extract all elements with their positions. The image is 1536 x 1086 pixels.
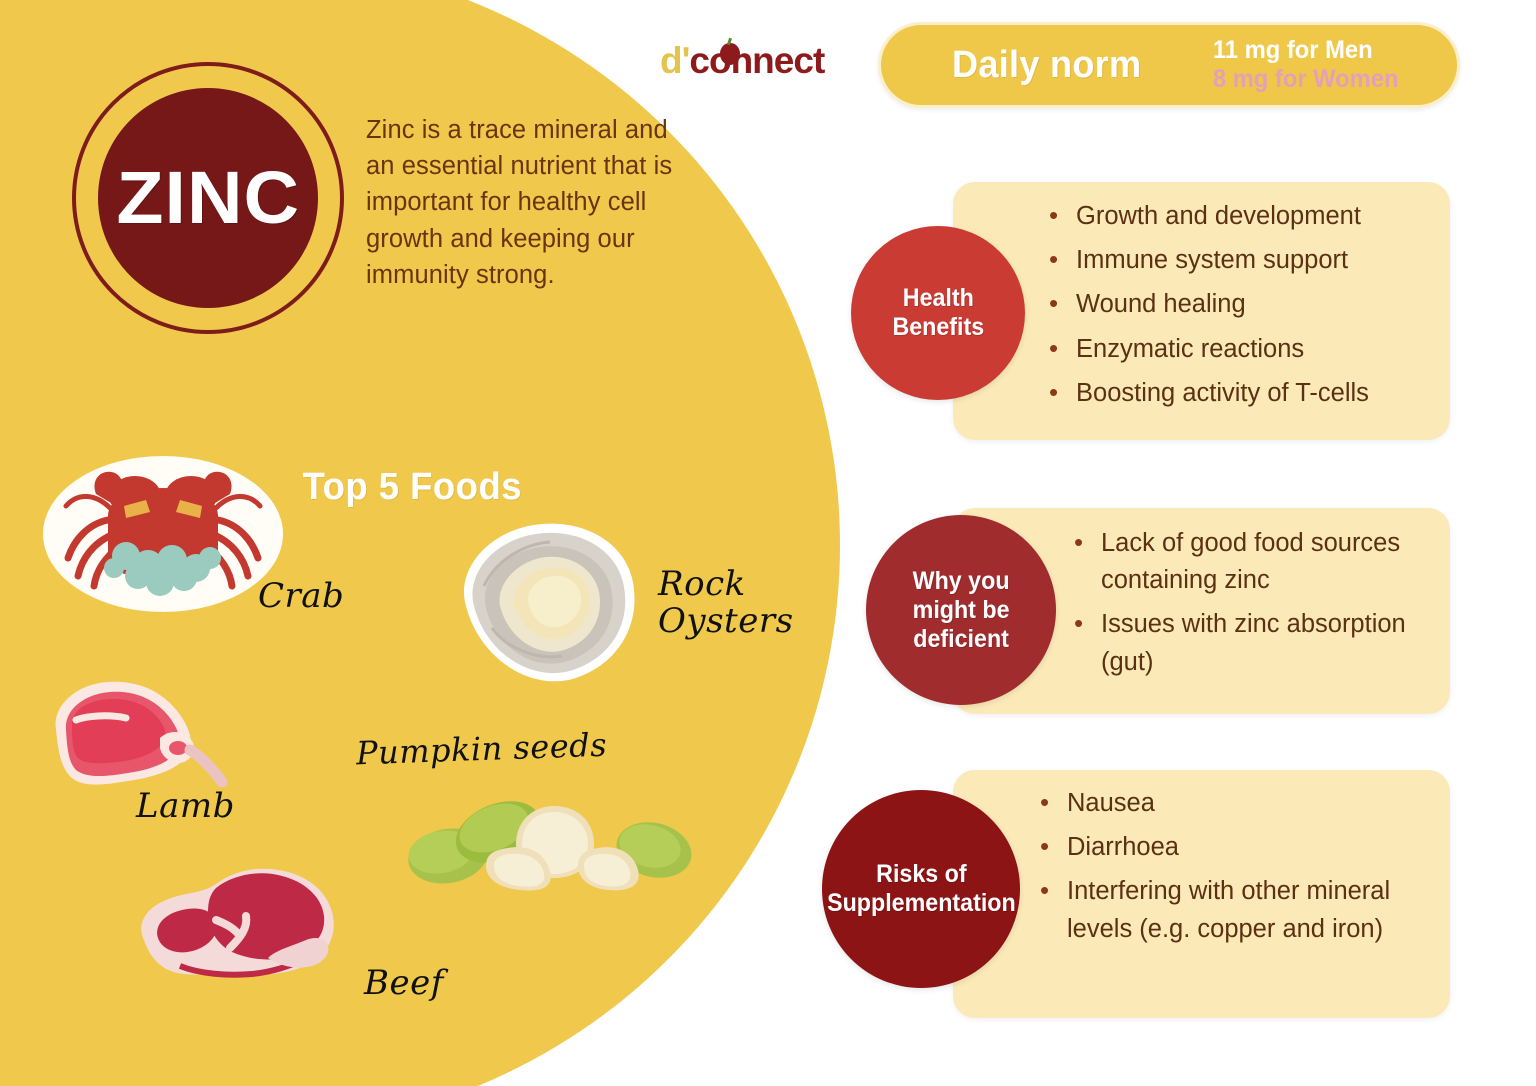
logo-d-letter: d' — [660, 42, 689, 79]
list-item: Interfering with other mineral levels (e… — [1036, 873, 1446, 947]
daily-norm-women: 8 mg for Women — [1213, 65, 1399, 95]
why-deficient-list: Lack of good food sources containing zin… — [1070, 525, 1445, 688]
zinc-badge-label: ZINC — [116, 161, 300, 235]
list-item: Immune system support — [1045, 242, 1445, 279]
list-item: Diarrhoea — [1036, 829, 1446, 866]
list-item: Boosting activity of T-cells — [1045, 375, 1445, 412]
logo-connect-word: connect — [689, 42, 824, 79]
food-label-oysters: Rock Oysters — [658, 566, 794, 639]
list-item: Issues with zinc absorption (gut) — [1070, 606, 1445, 680]
health-benefits-title: Health Benefits — [892, 284, 984, 342]
why-deficient-title: Why you might be deficient — [913, 567, 1010, 654]
daily-norm-title: Daily norm — [952, 44, 1141, 87]
list-item: Nausea — [1036, 785, 1446, 822]
list-item: Lack of good food sources containing zin… — [1070, 525, 1445, 599]
zinc-infographic: ZINC Zinc is a trace mineral and an esse… — [0, 0, 1536, 1086]
risks-supplementation-circle: Risks of Supplementation — [822, 790, 1020, 988]
risks-supplementation-title: Risks of Supplementation — [827, 860, 1016, 918]
list-item: Growth and development — [1045, 198, 1445, 235]
health-benefits-list: Growth and development Immune system sup… — [1045, 198, 1445, 419]
daily-norm-values: 11 mg for Men 8 mg for Women — [1208, 36, 1403, 95]
food-label-beef: Beef — [364, 965, 444, 1002]
food-label-lamb: Lamb — [136, 788, 235, 825]
zinc-badge-disc: ZINC — [98, 88, 318, 308]
list-item: Wound healing — [1045, 286, 1445, 323]
brand-logo: d' connect — [660, 42, 824, 79]
risks-supplementation-list: Nausea Diarrhoea Interfering with other … — [1036, 785, 1446, 955]
food-label-pumpkin-seeds: Pumpkin seeds — [355, 728, 607, 771]
oyster-icon — [436, 510, 658, 692]
zinc-description: Zinc is a trace mineral and an essential… — [366, 112, 696, 293]
why-deficient-circle: Why you might be deficient — [866, 515, 1056, 705]
daily-norm-pill: Daily norm 11 mg for Men 8 mg for Women — [878, 22, 1460, 108]
daily-norm-men: 11 mg for Men — [1213, 36, 1399, 66]
crab-icon — [38, 448, 288, 616]
zinc-badge: ZINC — [72, 62, 344, 334]
beef-steak-icon — [120, 848, 390, 1008]
list-item: Enzymatic reactions — [1045, 331, 1445, 368]
food-label-crab: Crab — [258, 578, 344, 615]
health-benefits-circle: Health Benefits — [851, 226, 1025, 400]
logo-connect-text: connect — [689, 40, 824, 81]
top-foods-title: Top 5 Foods — [303, 466, 522, 509]
pumpkin-seeds-icon — [402, 792, 692, 892]
